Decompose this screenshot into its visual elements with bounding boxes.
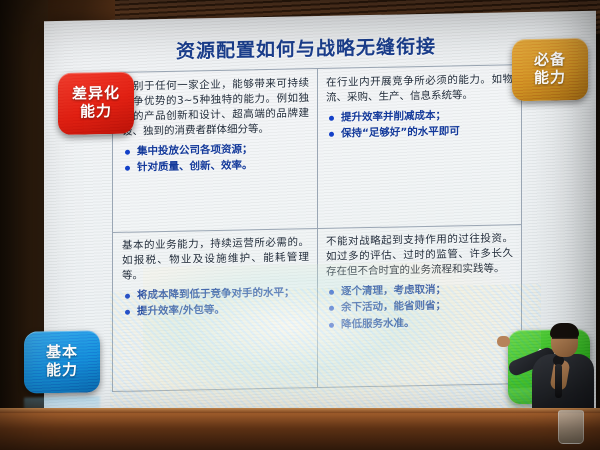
list-item: 将成本降到低于竞争对手的水平； [122,285,309,303]
list-item: 集中投放公司各项资源； [122,141,309,159]
slide-title: 资源配置如何与战略无缝衔接 [106,30,506,65]
presenter-glasses [552,337,578,342]
badge-label-line1: 基本 [46,344,78,362]
quadrant-surplus: 不能对战略起到支持作用的过往投资。如过多的评估、过时的监管、许多长久存在但不合时… [317,224,521,387]
list-item: 提升效率/外包等。 [122,301,309,319]
presenter-silhouette [510,318,598,420]
quadrant-bullet-list: 提升效率并削减成本； 保持“足够好”的水平即可 [326,107,513,142]
badge-basic-capability: 基本 能力 [24,330,100,393]
list-item: 余下活动，能省则省； [326,297,513,315]
capability-matrix: 有别于任何一家企业，能够带来可持续竞争优势的3~5种独特的能力。例如独特的产品创… [112,64,522,392]
quadrant-differentiating: 有别于任何一家企业，能够带来可持续竞争优势的3~5种独特的能力。例如独特的产品创… [113,69,317,232]
microphone-body [555,364,562,398]
quadrant-paragraph: 有别于任何一家企业，能够带来可持续竞争优势的3~5种独特的能力。例如独特的产品创… [122,76,309,139]
presenter-pointing-hand [497,336,510,347]
badge-essential-capability: 必备 能力 [512,38,588,101]
badge-differentiating-capability: 差异化 能力 [58,72,134,135]
list-item: 提升效率并削减成本； [326,107,513,125]
badge-label-line2: 能力 [46,362,78,380]
presenter-hair [550,323,579,338]
quadrant-bullet-list: 集中投放公司各项资源； 针对质量、创新、效率。 [122,141,309,176]
conference-room-photo: 资源配置如何与战略无缝衔接 有别于任何一家企业，能够带来可持续竞争优势的3~5种… [0,0,600,450]
badge-label-line1: 必备 [534,52,566,70]
wooden-podium-ledge [0,408,600,450]
list-item: 降低服务水准。 [326,314,513,332]
quadrant-bullet-list: 逐个清理，考虑取消； 余下活动，能省则省； 降低服务水准。 [326,281,513,332]
list-item: 逐个清理，考虑取消； [326,281,513,299]
quadrant-paragraph: 基本的业务能力，持续运营所必需的。如报税、物业及设施维护、能耗管理等。 [122,235,309,283]
quadrant-essential: 在行业内开展竞争所必须的能力。如物流、采购、生产、信息系统等。 提升效率并削减成… [317,65,521,228]
list-item: 保持“足够好”的水平即可 [326,124,513,142]
quadrant-paragraph: 在行业内开展竞争所必须的能力。如物流、采购、生产、信息系统等。 [326,72,513,105]
badge-label-line2: 能力 [80,103,112,121]
badge-label-line1: 差异化 [72,85,120,104]
quadrant-basic: 基本的业务能力，持续运营所必需的。如报税、物业及设施维护、能耗管理等。 将成本降… [113,228,317,391]
water-glass [558,410,584,444]
quadrant-paragraph: 不能对战略起到支持作用的过往投资。如过多的评估、过时的监管、许多长久存在但不合时… [326,231,513,279]
list-item: 针对质量、创新、效率。 [122,157,309,175]
quadrant-bullet-list: 将成本降到低于竞争对手的水平； 提升效率/外包等。 [122,285,309,320]
badge-label-line2: 能力 [534,69,566,87]
